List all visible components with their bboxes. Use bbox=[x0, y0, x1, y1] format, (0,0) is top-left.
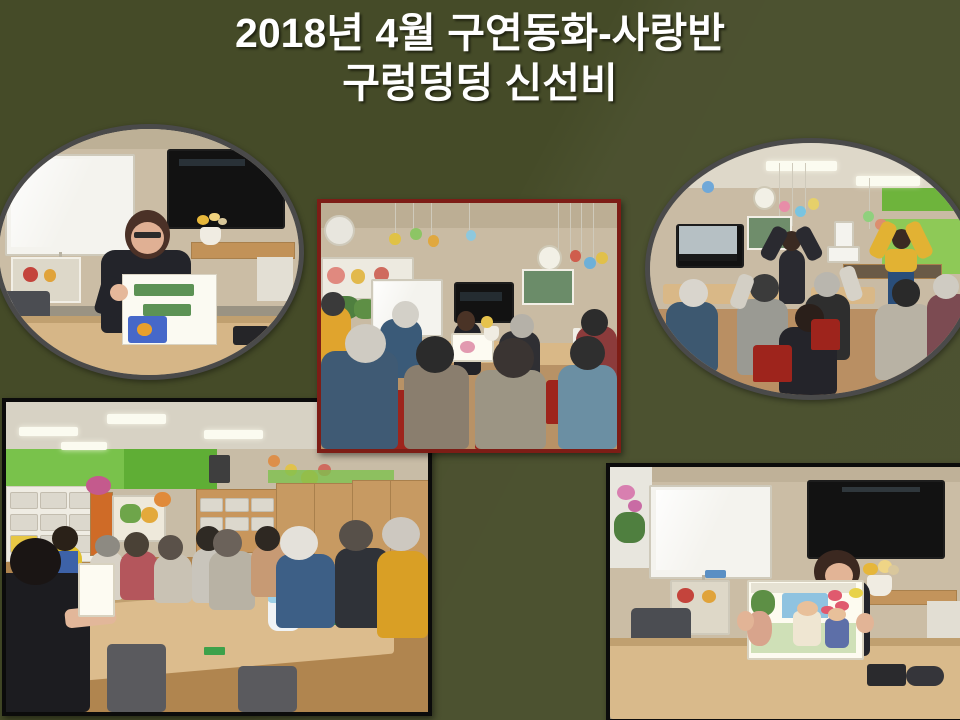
slide-title: 2018년 4월 구연동화-사랑반 구렁덩덩 신선비 bbox=[0, 8, 960, 108]
slide-canvas: 2018년 4월 구연동화-사랑반 구렁덩덩 신선비 bbox=[0, 0, 960, 720]
title-line-1: 2018년 4월 구연동화-사랑반 bbox=[0, 8, 960, 58]
photo-top-right-scene bbox=[650, 143, 960, 395]
photo-top-left[interactable] bbox=[0, 124, 304, 380]
title-line-2: 구렁덩덩 신선비 bbox=[0, 58, 960, 108]
photo-center[interactable] bbox=[317, 199, 621, 453]
photo-top-left-scene bbox=[0, 129, 299, 375]
photo-top-right[interactable] bbox=[645, 138, 960, 400]
photo-bottom-right-scene bbox=[610, 467, 960, 719]
photo-center-scene bbox=[321, 203, 617, 449]
photo-bottom-right[interactable] bbox=[606, 463, 960, 720]
